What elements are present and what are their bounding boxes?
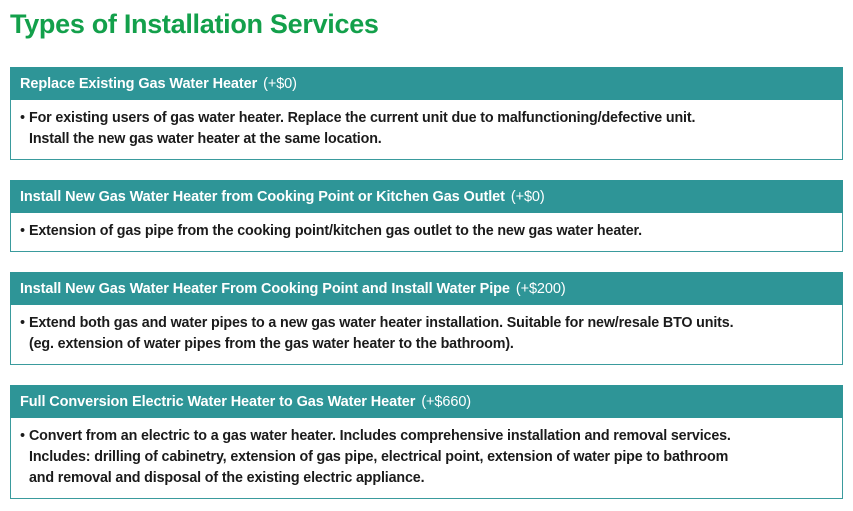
service-card-price: (+$0) <box>511 189 545 205</box>
bullet-point-icon: • <box>20 313 29 334</box>
service-card: Install New Gas Water Heater From Cookin… <box>10 272 843 365</box>
service-card-title: Install New Gas Water Heater from Cookin… <box>20 189 505 205</box>
bullet-line: Includes: drilling of cabinetry, extensi… <box>29 447 832 468</box>
service-card-price: (+$200) <box>516 281 566 297</box>
service-card: Replace Existing Gas Water Heater (+$0) … <box>10 67 843 160</box>
bullet-line: For existing users of gas water heater. … <box>29 108 832 129</box>
bullet-line: and removal and disposal of the existing… <box>29 468 832 489</box>
service-card: Full Conversion Electric Water Heater to… <box>10 385 843 499</box>
bullet-text: Extend both gas and water pipes to a new… <box>29 313 832 355</box>
bullet-line: Extension of gas pipe from the cooking p… <box>29 221 832 242</box>
service-card-header: Full Conversion Electric Water Heater to… <box>10 385 843 418</box>
bullet-line: (eg. extension of water pipes from the g… <box>29 334 832 355</box>
service-card-header: Install New Gas Water Heater from Cookin… <box>10 180 843 213</box>
bullet-item: • Extend both gas and water pipes to a n… <box>20 313 832 355</box>
bullet-item: • Convert from an electric to a gas wate… <box>20 426 832 489</box>
service-card-title: Install New Gas Water Heater From Cookin… <box>20 281 510 297</box>
service-card-body: • For existing users of gas water heater… <box>10 100 843 160</box>
bullet-point-icon: • <box>20 426 29 447</box>
service-card-header: Replace Existing Gas Water Heater (+$0) <box>10 67 843 100</box>
bullet-point-icon: • <box>20 108 29 129</box>
service-card: Install New Gas Water Heater from Cookin… <box>10 180 843 252</box>
bullet-line: Convert from an electric to a gas water … <box>29 426 832 447</box>
service-card-price: (+$0) <box>263 76 297 92</box>
service-card-title: Full Conversion Electric Water Heater to… <box>20 394 415 410</box>
bullet-text: Convert from an electric to a gas water … <box>29 426 832 489</box>
bullet-item: • For existing users of gas water heater… <box>20 108 832 150</box>
service-card-body: • Convert from an electric to a gas wate… <box>10 418 843 499</box>
service-card-header: Install New Gas Water Heater From Cookin… <box>10 272 843 305</box>
bullet-point-icon: • <box>20 221 29 242</box>
service-card-body: • Extend both gas and water pipes to a n… <box>10 305 843 365</box>
service-card-body: • Extension of gas pipe from the cooking… <box>10 213 843 252</box>
service-card-price: (+$660) <box>421 394 471 410</box>
installation-services-page: Types of Installation Services Replace E… <box>0 0 853 511</box>
bullet-item: • Extension of gas pipe from the cooking… <box>20 221 832 242</box>
bullet-line: Extend both gas and water pipes to a new… <box>29 313 832 334</box>
page-title: Types of Installation Services <box>10 4 379 44</box>
bullet-text: Extension of gas pipe from the cooking p… <box>29 221 832 242</box>
bullet-line: Install the new gas water heater at the … <box>29 129 832 150</box>
bullet-text: For existing users of gas water heater. … <box>29 108 832 150</box>
service-card-title: Replace Existing Gas Water Heater <box>20 76 257 92</box>
service-card-list: Replace Existing Gas Water Heater (+$0) … <box>10 67 843 499</box>
